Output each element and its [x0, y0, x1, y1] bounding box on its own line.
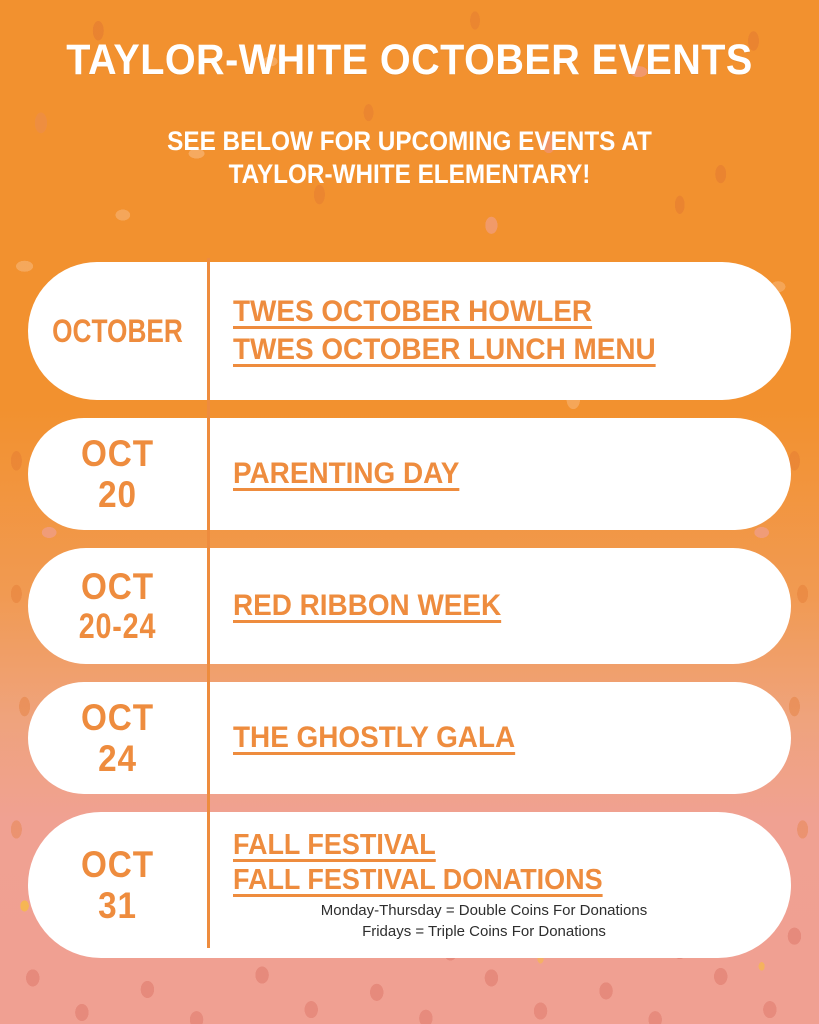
event-date: OCT 20: [28, 435, 207, 513]
event-card: OCTOBER TWES OCTOBER HOWLER TWES OCTOBER…: [28, 262, 791, 400]
event-card: OCT 20 PARENTING DAY: [28, 418, 791, 530]
event-link[interactable]: THE GHOSTLY GALA: [233, 719, 733, 757]
event-date-line: 20: [42, 476, 192, 513]
event-link[interactable]: TWES OCTOBER LUNCH MENU: [233, 331, 733, 369]
event-details: FALL FESTIVAL FALL FESTIVAL DONATIONS Mo…: [207, 828, 791, 942]
event-note: Monday-Thursday = Double Coins For Donat…: [233, 901, 771, 921]
event-date-line: OCTOBER: [49, 315, 186, 347]
events-list: OCTOBER TWES OCTOBER HOWLER TWES OCTOBER…: [28, 262, 791, 976]
event-date-line: OCT: [42, 699, 192, 736]
event-card: OCT 24 THE GHOSTLY GALA: [28, 682, 791, 794]
event-date-line: OCT: [42, 846, 192, 883]
event-note: Fridays = Triple Coins For Donations: [233, 922, 771, 942]
event-link[interactable]: RED RIBBON WEEK: [233, 587, 733, 625]
event-details: THE GHOSTLY GALA: [207, 719, 791, 757]
event-date-line: 20-24: [49, 609, 186, 644]
poster-header: TAYLOR-WHITE OCTOBER EVENTS SEE BELOW FO…: [0, 0, 819, 190]
event-date-line: 31: [42, 887, 192, 924]
page-title: TAYLOR-WHITE OCTOBER EVENTS: [33, 38, 786, 83]
column-divider: [207, 258, 210, 948]
page-subtitle-line-2: TAYLOR-WHITE ELEMENTARY!: [229, 159, 591, 189]
event-link[interactable]: FALL FESTIVAL: [233, 828, 733, 863]
event-date: OCT 31: [28, 846, 207, 924]
event-card: OCT 31 FALL FESTIVAL FALL FESTIVAL DONAT…: [28, 812, 791, 958]
event-card: OCT 20-24 RED RIBBON WEEK: [28, 548, 791, 664]
page-subtitle: SEE BELOW FOR UPCOMING EVENTS AT TAYLOR-…: [41, 125, 778, 190]
event-link[interactable]: PARENTING DAY: [233, 455, 733, 493]
event-date: OCT 24: [28, 699, 207, 777]
event-details: RED RIBBON WEEK: [207, 587, 791, 625]
event-date-line: OCT: [42, 568, 192, 605]
event-date: OCTOBER: [28, 315, 207, 347]
page-subtitle-line-1: SEE BELOW FOR UPCOMING EVENTS AT: [167, 126, 652, 156]
event-date: OCT 20-24: [28, 568, 207, 644]
event-details: PARENTING DAY: [207, 455, 791, 493]
event-date-line: OCT: [42, 435, 192, 472]
event-date-line: 24: [42, 740, 192, 777]
event-details: TWES OCTOBER HOWLER TWES OCTOBER LUNCH M…: [207, 293, 791, 370]
event-poster: TAYLOR-WHITE OCTOBER EVENTS SEE BELOW FO…: [0, 0, 819, 1024]
event-link[interactable]: TWES OCTOBER HOWLER: [233, 293, 733, 331]
event-link[interactable]: FALL FESTIVAL DONATIONS: [233, 863, 733, 898]
